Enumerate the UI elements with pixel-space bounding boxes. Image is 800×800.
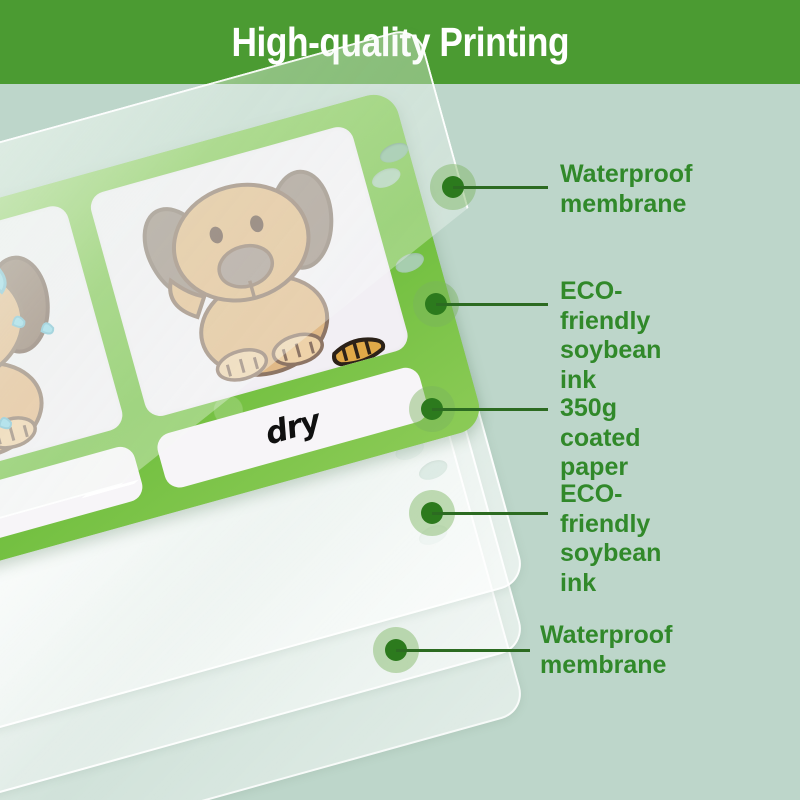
card-label-right-text: dry <box>261 403 323 452</box>
callout-label: ECO-friendly soybean ink <box>560 277 661 395</box>
punch-hole-icon <box>377 139 411 167</box>
callout-label: 350g coated paper <box>560 394 641 483</box>
callout-leader-line <box>396 649 530 652</box>
callout-leader-line <box>432 512 548 515</box>
callout-label: Waterproof membrane <box>540 621 672 680</box>
callout-leader-line <box>436 303 548 306</box>
callout-label: ECO-friendly soybean ink <box>560 480 661 598</box>
callout-label: Waterproof membrane <box>560 160 692 219</box>
callout-leader-line <box>453 186 548 189</box>
infographic-canvas: High-quality Printing <box>0 0 800 800</box>
callout-leader-line <box>432 408 548 411</box>
